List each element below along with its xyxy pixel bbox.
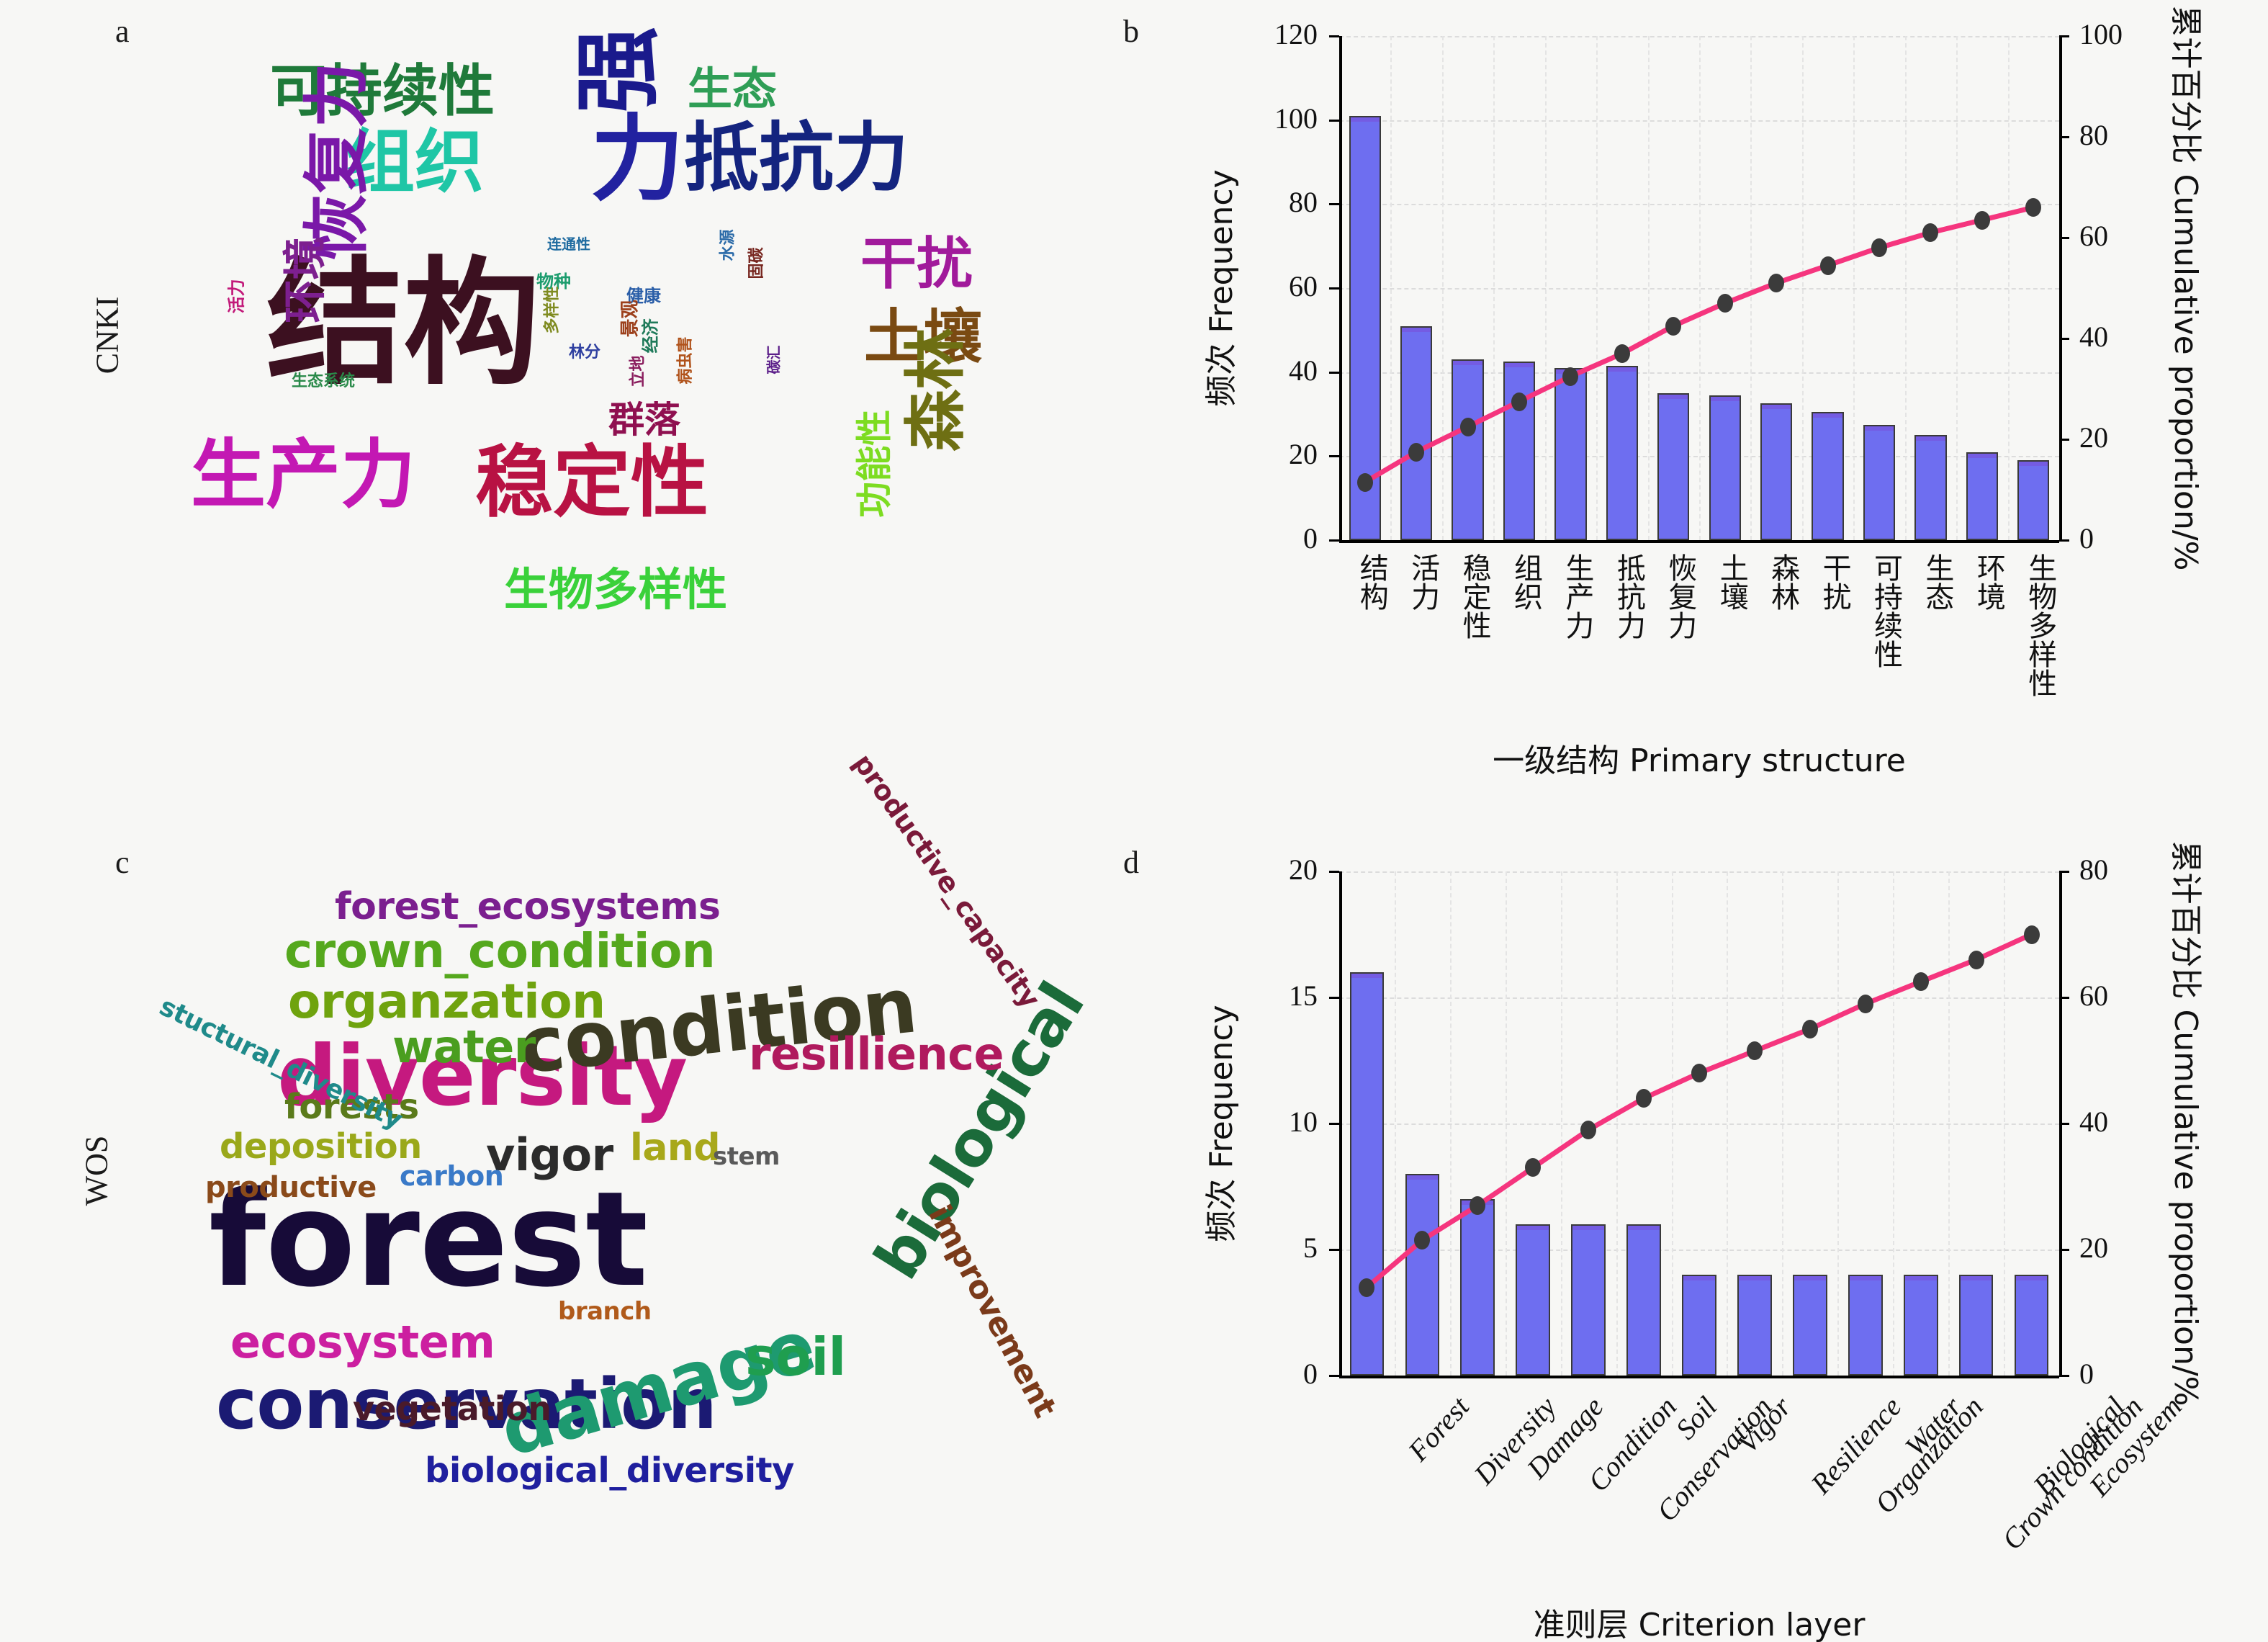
x-axis-title: 一级结构 Primary structure: [1493, 735, 1906, 781]
gridline-horizontal: [1339, 1123, 2059, 1125]
bar: [1863, 425, 1895, 540]
pareto-chart-criterion-layer: 05101520020406080ForestDiversityDamageCo…: [1123, 846, 2254, 1638]
x-axis-category-label: 抵抗力: [1608, 553, 1650, 640]
y-ticklabel-right: 100: [2079, 17, 2123, 51]
gridline-vertical: [1750, 36, 1752, 540]
cumulative-marker: [1460, 418, 1476, 436]
cumulative-marker: [1359, 1278, 1374, 1297]
bar: [1709, 395, 1741, 540]
y-axis-left: [1339, 36, 1342, 540]
y-tick-right: [2059, 1375, 2069, 1377]
wordcloud-wos: forestdiversityconditionconservationdama…: [0, 0, 1080, 1642]
y-ticklabel-right: 60: [2079, 979, 2108, 1013]
cumulative-marker: [1580, 1121, 1596, 1139]
cumulative-marker: [1968, 951, 1984, 969]
pareto-chart-primary-structure: 020406080100120020406080100结构活力稳定性组织生产力抵…: [1123, 14, 2254, 792]
x-axis-category-label: 干扰: [1814, 553, 1855, 611]
wos-word: forest_ecosystems: [335, 889, 720, 925]
wos-word: stem: [713, 1145, 780, 1168]
cumulative-marker: [1913, 972, 1929, 991]
cumulative-marker: [1717, 294, 1733, 313]
y-tick-left: [1329, 455, 1339, 457]
cumulative-marker: [1408, 443, 1424, 462]
cumulative-marker: [1922, 223, 1938, 242]
wos-word: organzation: [288, 979, 606, 1025]
y-ticklabel-right: 20: [2079, 421, 2108, 454]
gridline-vertical: [1616, 871, 1618, 1376]
bar: [1657, 393, 1689, 540]
bar: [1737, 1275, 1772, 1376]
y-axis-title-right: 累计百分比 Cumulative proportion/%: [2166, 841, 2212, 1407]
y-ticklabel-left: 20: [1289, 437, 1318, 471]
y-ticklabel-left: 120: [1274, 17, 1318, 51]
x-axis-category-label: Forest: [1402, 1390, 1477, 1468]
x-axis-category-label: 恢复力: [1659, 553, 1701, 640]
y-axis-title-right: 累计百分比 Cumulative proportion/%: [2166, 6, 2212, 571]
wos-word: water: [392, 1026, 536, 1069]
wos-word: biological_diversity: [425, 1455, 794, 1488]
y-ticklabel-left: 15: [1289, 979, 1318, 1013]
y-ticklabel-left: 10: [1289, 1105, 1318, 1139]
cumulative-marker: [1820, 256, 1836, 275]
y-tick-right: [2059, 1249, 2069, 1251]
x-axis-category-label: 结构: [1351, 553, 1392, 611]
bar: [1503, 362, 1535, 540]
bar: [1848, 1275, 1883, 1376]
cumulative-marker: [1636, 1089, 1652, 1108]
y-tick-left: [1329, 35, 1339, 37]
gridline-vertical: [1699, 36, 1701, 540]
y-ticklabel-right: 60: [2079, 219, 2108, 253]
x-axis-title: 准则层 Criterion layer: [1534, 1599, 1866, 1642]
cumulative-marker: [1665, 317, 1681, 336]
cumulative-marker: [1974, 211, 1990, 230]
gridline-vertical: [1395, 871, 1396, 1376]
y-tick-left: [1329, 1375, 1339, 1377]
y-tick-right: [2059, 539, 2069, 542]
gridline-horizontal: [1339, 1250, 2059, 1251]
wos-word: deposition: [220, 1131, 422, 1164]
bar: [1554, 368, 1586, 540]
bar: [1682, 1275, 1716, 1376]
gridline-vertical: [1648, 36, 1650, 540]
y-ticklabel-right: 80: [2079, 118, 2108, 152]
wos-word: carbon: [400, 1163, 503, 1189]
cumulative-marker: [1470, 1196, 1485, 1215]
x-axis: [1339, 1376, 2059, 1378]
y-axis-title-left: 频次 Frequency: [1195, 1005, 1241, 1242]
y-ticklabel-right: 40: [2079, 1105, 2108, 1139]
gridline-vertical: [1893, 871, 1894, 1376]
gridline-vertical: [1905, 36, 1907, 540]
y-ticklabel-left: 60: [1289, 269, 1318, 303]
gridline-vertical: [1727, 871, 1728, 1376]
y-tick-left: [1329, 997, 1339, 999]
gridline-vertical: [1853, 36, 1855, 540]
cumulative-marker: [1614, 344, 1630, 363]
gridline-vertical: [1802, 36, 1804, 540]
wos-word: ecosystem: [230, 1322, 495, 1364]
gridline-horizontal: [1339, 871, 2059, 873]
y-tick-left: [1329, 287, 1339, 290]
cumulative-marker: [1691, 1064, 1707, 1082]
gridline-vertical: [1493, 36, 1495, 540]
bar: [1760, 403, 1792, 540]
gridline-vertical: [1956, 36, 1958, 540]
bar: [1904, 1275, 1938, 1376]
bar: [1626, 1224, 1661, 1376]
x-axis-category-label: 森林: [1762, 553, 1804, 611]
y-tick-right: [2059, 871, 2069, 873]
cumulative-marker: [2024, 925, 2040, 944]
x-axis-category-label: 生态: [1916, 553, 1958, 611]
x-axis-category-label: 稳定性: [1454, 553, 1495, 640]
y-ticklabel-right: 0: [2079, 1357, 2094, 1391]
x-axis-category-label: 生产力: [1556, 553, 1598, 640]
bar: [1460, 1199, 1495, 1376]
gridline-vertical: [2008, 36, 2010, 540]
x-axis-category-label: 活力: [1402, 553, 1444, 611]
wos-word: crown_condition: [284, 929, 715, 974]
cumulative-marker: [1871, 238, 1887, 257]
gridline-vertical: [1390, 36, 1392, 540]
cumulative-marker: [1357, 473, 1373, 492]
y-ticklabel-left: 0: [1303, 521, 1318, 555]
bar: [1571, 1224, 1606, 1376]
y-ticklabel-left: 40: [1289, 354, 1318, 387]
y-tick-left: [1329, 203, 1339, 205]
cumulative-marker: [1858, 995, 1873, 1013]
y-axis-title-left: 频次 Frequency: [1195, 169, 1241, 406]
bar: [1959, 1275, 1994, 1376]
gridline-vertical: [1837, 871, 1839, 1376]
cumulative-marker: [1414, 1231, 1430, 1250]
gridline-vertical: [1672, 871, 1673, 1376]
y-tick-left: [1329, 539, 1339, 542]
y-tick-right: [2059, 1123, 2069, 1125]
y-ticklabel-left: 100: [1274, 102, 1318, 135]
wos-word: improvement: [924, 1201, 1061, 1422]
gridline-vertical: [1948, 871, 1950, 1376]
bar: [1516, 1224, 1550, 1376]
y-tick-right: [2059, 35, 2069, 37]
wos-word: vigor: [486, 1134, 613, 1177]
y-ticklabel-right: 80: [2079, 853, 2108, 887]
y-axis-left: [1339, 871, 1342, 1376]
y-tick-right: [2059, 338, 2069, 340]
bar: [1405, 1174, 1440, 1376]
plot-area: [1339, 871, 2059, 1376]
wos-word: resillience: [749, 1033, 1004, 1076]
y-tick-right: [2059, 997, 2069, 999]
y-tick-right: [2059, 439, 2069, 441]
y-tick-right: [2059, 136, 2069, 138]
cumulative-marker: [1802, 1020, 1818, 1038]
y-ticklabel-left: 80: [1289, 185, 1318, 219]
gridline-vertical: [1506, 871, 1507, 1376]
bar: [1350, 972, 1385, 1376]
bar: [1452, 359, 1483, 540]
plot-area: [1339, 36, 2059, 540]
gridline-vertical: [1596, 36, 1598, 540]
bar: [2015, 1275, 2049, 1376]
gridline-horizontal: [1339, 997, 2059, 999]
wos-word: productive: [205, 1174, 377, 1201]
gridline-vertical: [2004, 871, 2005, 1376]
gridline-vertical: [1561, 871, 1562, 1376]
y-tick-left: [1329, 1123, 1339, 1125]
cumulative-marker: [1511, 392, 1527, 411]
cumulative-marker: [2025, 198, 2041, 217]
bar: [1966, 452, 1998, 541]
gridline-vertical: [1545, 36, 1547, 540]
bar: [2017, 460, 2049, 540]
wos-word: land: [630, 1131, 720, 1166]
x-axis-category-label: 土壤: [1711, 553, 1752, 611]
wos-word: vegetation: [353, 1394, 551, 1425]
cumulative-marker: [1562, 367, 1578, 386]
y-tick-left: [1329, 372, 1339, 374]
y-tick-left: [1329, 120, 1339, 122]
x-axis-category-label: 环境: [1968, 553, 2010, 611]
gridline-vertical: [1442, 36, 1444, 540]
y-tick-left: [1329, 871, 1339, 873]
wos-word: branch: [558, 1300, 652, 1323]
x-axis-category-label: 可持续性: [1865, 553, 1907, 668]
y-ticklabel-left: 5: [1303, 1231, 1318, 1265]
y-tick-left: [1329, 1249, 1339, 1251]
y-tick-right: [2059, 237, 2069, 239]
x-axis: [1339, 540, 2059, 543]
wos-word: soil: [745, 1332, 846, 1381]
y-ticklabel-right: 20: [2079, 1231, 2108, 1265]
bar: [1914, 435, 1946, 540]
y-axis-right: [2059, 36, 2062, 540]
y-ticklabel-left: 0: [1303, 1357, 1318, 1391]
y-ticklabel-right: 40: [2079, 320, 2108, 354]
figure-canvas: a CNKI 结构可持续性强生态组织恢复力抵抗力力环境干扰土壤森林群落生产力稳定…: [0, 0, 2268, 1642]
x-axis-category-label: 生物多样性: [2019, 553, 2061, 697]
bar: [1812, 412, 1843, 540]
cumulative-marker: [1768, 274, 1784, 292]
gridline-vertical: [1782, 871, 1783, 1376]
gridline-vertical: [1450, 871, 1452, 1376]
bar: [1606, 366, 1638, 540]
bar: [1400, 326, 1432, 541]
x-axis-category-label: 组织: [1505, 553, 1547, 611]
y-ticklabel-right: 0: [2079, 521, 2094, 555]
cumulative-marker: [1747, 1041, 1763, 1060]
bar: [1793, 1275, 1827, 1376]
cumulative-marker: [1525, 1158, 1541, 1177]
y-ticklabel-left: 20: [1289, 853, 1318, 887]
